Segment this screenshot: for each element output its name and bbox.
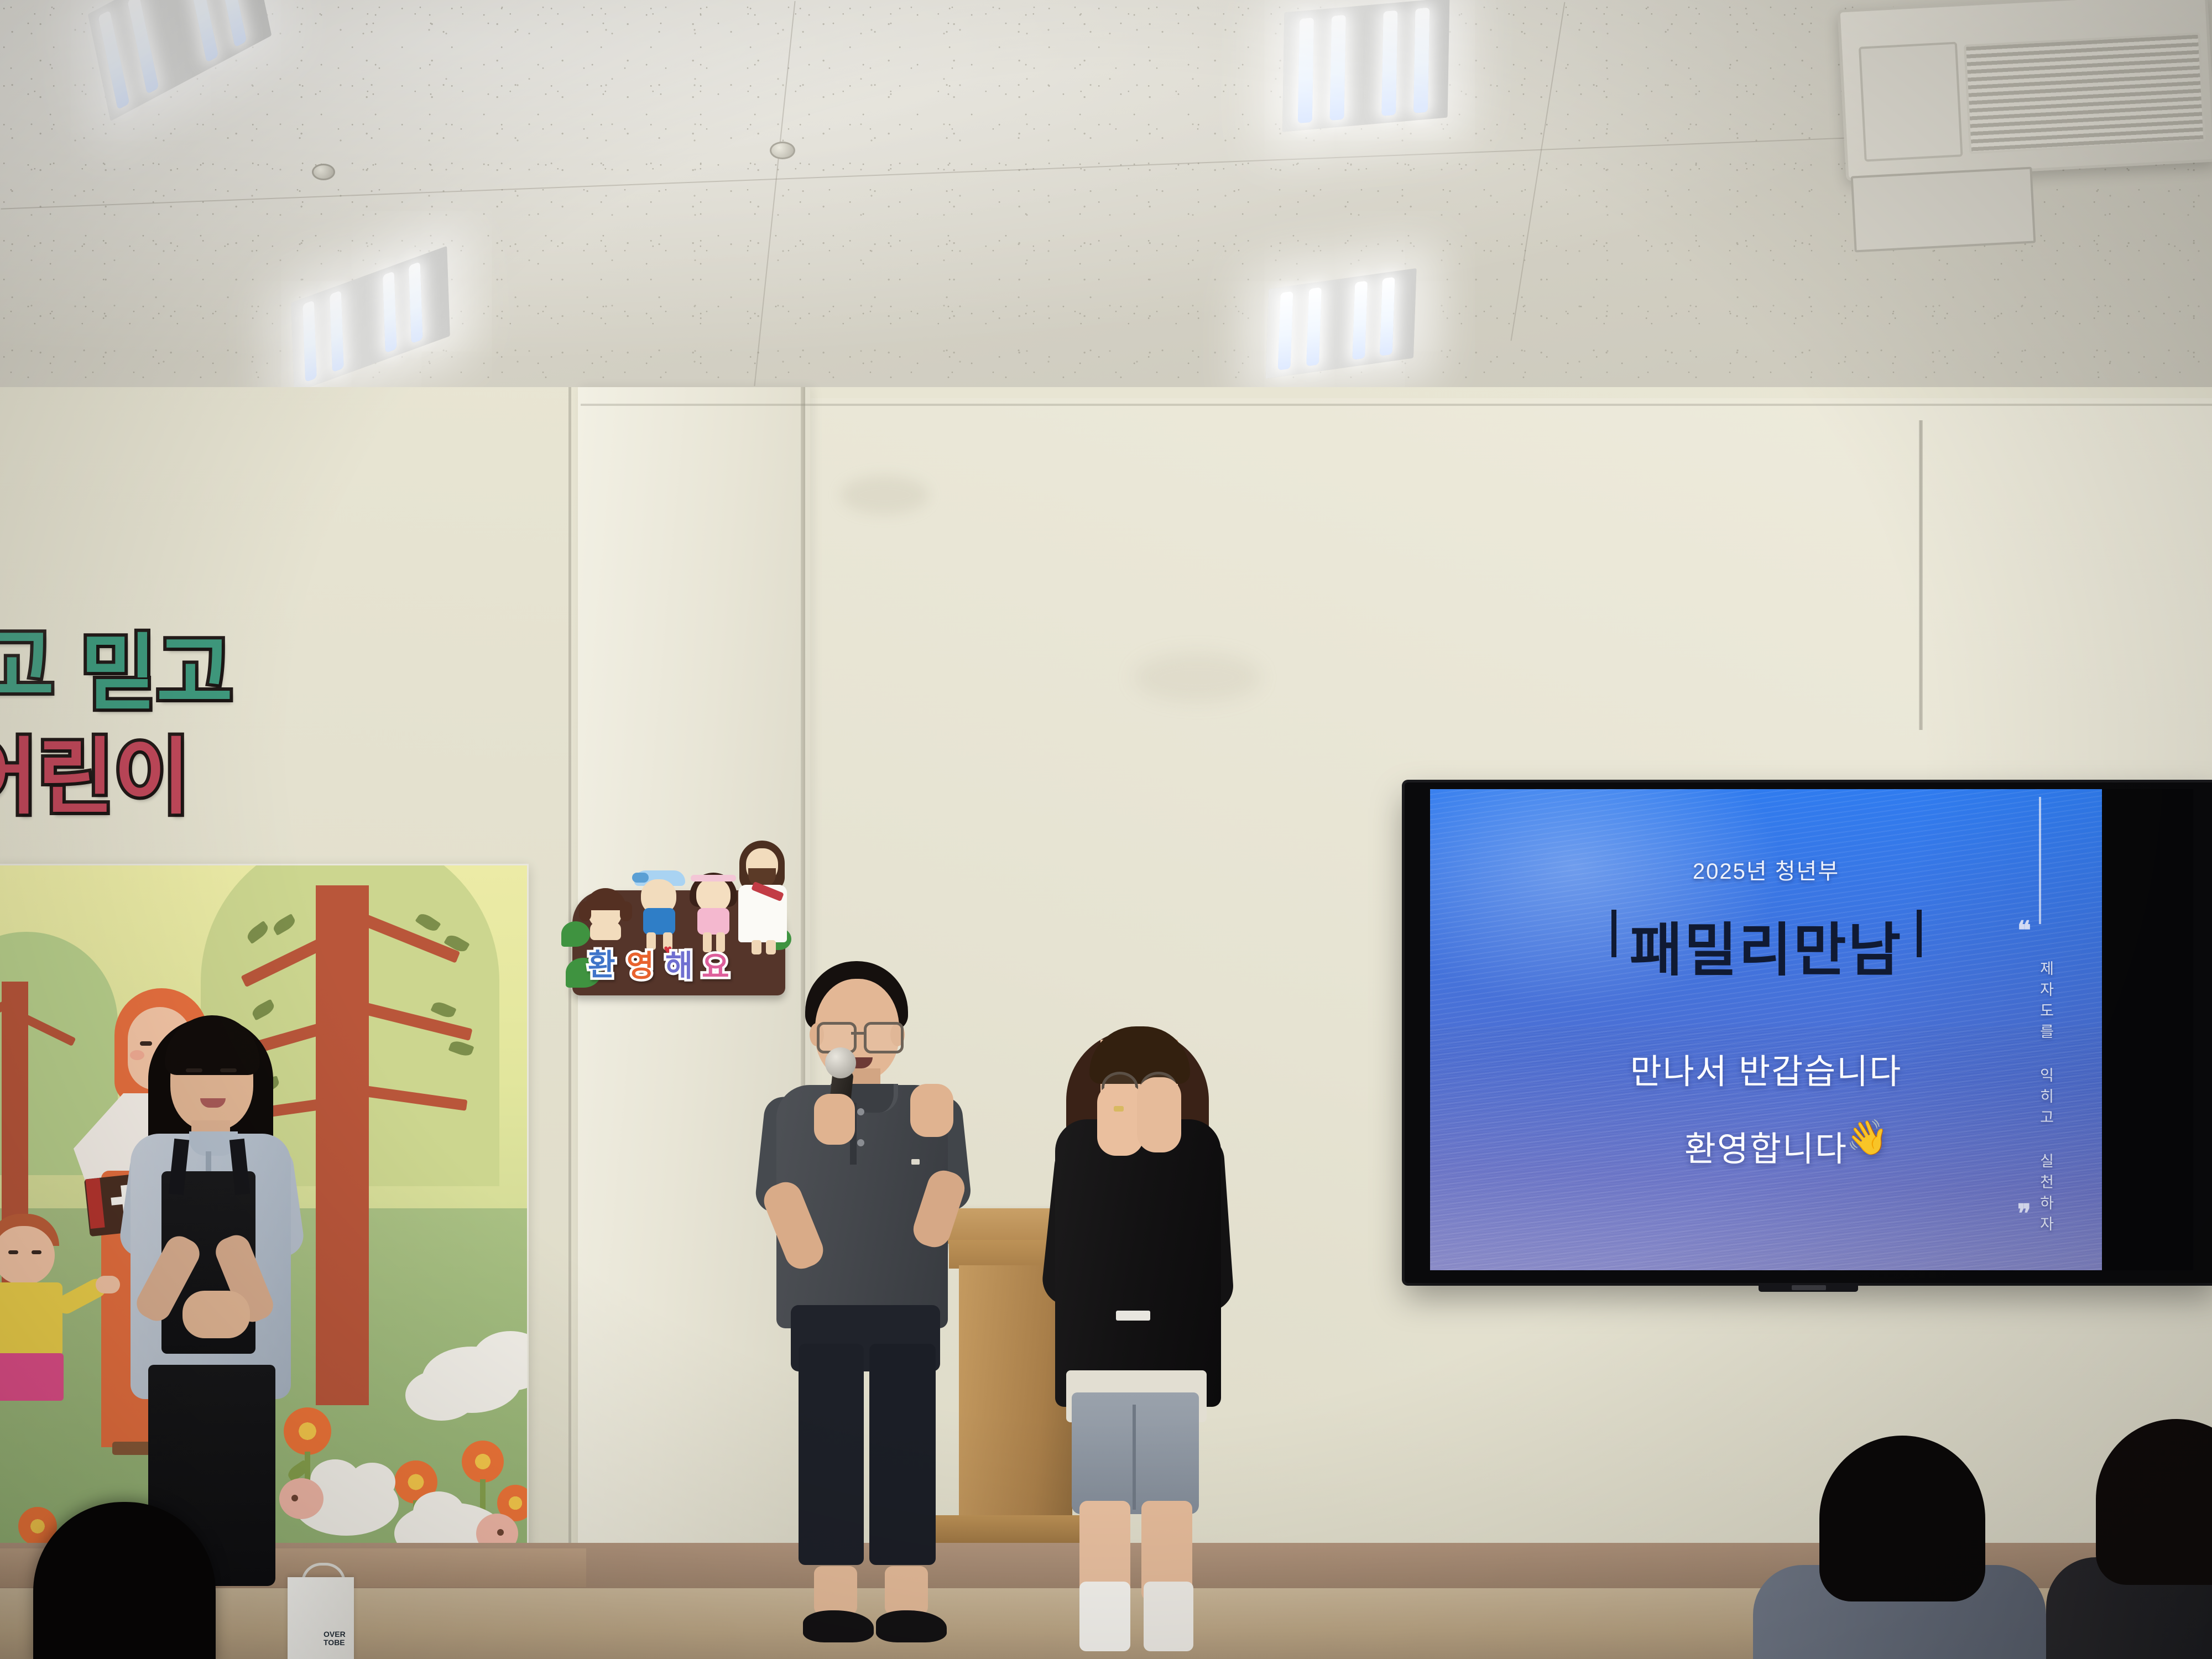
- audience-foreground-right-1: [1819, 1436, 1985, 1601]
- slide-line-1: 만나서 반갑습니다: [1430, 1044, 2102, 1093]
- welcome-figure-girl-pigtails: [580, 890, 630, 938]
- slide-quote-close-icon: ❞: [2017, 1198, 2033, 1228]
- ankle: [814, 1566, 857, 1615]
- tv-brand-logo: [1792, 1285, 1826, 1290]
- white-sock: [1079, 1582, 1130, 1651]
- polo-button: [857, 1108, 864, 1115]
- welcome-figure-girl-flowers: [687, 869, 740, 945]
- foam-letters-line1-text: 믿고: [80, 627, 233, 719]
- slide-line-2: 환영합니다: [1430, 1121, 2102, 1171]
- welcome-cutout-board: ♥ 환 영 해 요: [561, 813, 791, 995]
- slide-side-rule: [2039, 797, 2041, 924]
- wall-seam: [581, 404, 2212, 406]
- white-sock: [1144, 1582, 1193, 1651]
- eye: [186, 1068, 202, 1072]
- mural-flower: [462, 1441, 504, 1483]
- hand-gesturing: [910, 1084, 953, 1137]
- ankle: [885, 1566, 928, 1615]
- jacket-label: [1116, 1311, 1150, 1321]
- mural-child-figure: [0, 1214, 96, 1396]
- microphone-head[interactable]: [825, 1047, 856, 1078]
- welcome-board-text: 환 영 해 요: [588, 950, 754, 989]
- presentation-slide: 2025년 청년부 패밀리만남 만나서 반갑습니다 환영합니다 👋 ❝ 제자도를…: [1430, 789, 2102, 1270]
- wall-mounted-television[interactable]: 2025년 청년부 패밀리만남 만나서 반갑습니다 환영합니다 👋 ❝ 제자도를…: [1405, 782, 2212, 1283]
- wall-cable-conduit: [1919, 420, 1923, 730]
- finger-ring: [1114, 1106, 1124, 1112]
- slide-title: 패밀리만남: [1430, 903, 2102, 987]
- eyeglasses-bridge: [851, 1032, 865, 1035]
- mural-flower: [284, 1407, 331, 1455]
- recessed-fluorescent-fixture: [1282, 0, 1450, 132]
- slide-quote-open-icon: ❝: [2017, 915, 2033, 945]
- slide-title-bar-right: [1917, 910, 1922, 957]
- slide-year-label: 2025년 청년부: [1430, 853, 2102, 885]
- ceiling-vent: [1851, 167, 2036, 253]
- foam-letters-line2: 어린이: [0, 735, 190, 818]
- foam-letter-partial: 고: [0, 625, 54, 708]
- hand-holding-microphone: [814, 1094, 855, 1145]
- waving-hand-icon: 👋: [1846, 1118, 1888, 1158]
- eyeglasses-lens: [864, 1022, 904, 1053]
- smoke-detector-icon: [770, 142, 795, 159]
- hand-covering-face: [1137, 1077, 1181, 1152]
- shorts-seam: [1133, 1405, 1136, 1510]
- smoke-detector-icon: [312, 164, 335, 180]
- shopping-bag-text: OVER TOBE: [324, 1630, 354, 1647]
- black-fleece-jacket: [1055, 1119, 1221, 1407]
- mural-cloud: [405, 1370, 477, 1421]
- tv-screen: 2025년 청년부 패밀리만남 만나서 반갑습니다 환영합니다 👋 ❝ 제자도를…: [1430, 789, 2193, 1270]
- wall-smudge: [1134, 653, 1261, 702]
- trouser-leg: [869, 1344, 936, 1565]
- foam-letters-line2-text: 어린이: [0, 731, 190, 823]
- welcome-figure-jesus: [736, 841, 791, 957]
- eye: [220, 1068, 237, 1072]
- slide-side-vertical-text: 제자도를 익히고 실천하자: [2027, 961, 2053, 1237]
- wall-smudge: [841, 476, 929, 514]
- photograph-scene: 고 믿고 어린이: [0, 0, 2212, 1659]
- polo-button: [857, 1139, 864, 1146]
- trouser-leg: [799, 1344, 864, 1565]
- shirt-logo: [911, 1159, 920, 1165]
- foam-letters-line1: 믿고: [80, 632, 233, 714]
- mural-tree-trunk: [316, 885, 369, 1405]
- clasped-hands: [182, 1291, 250, 1338]
- welcome-figure-boy-cap: [632, 867, 687, 942]
